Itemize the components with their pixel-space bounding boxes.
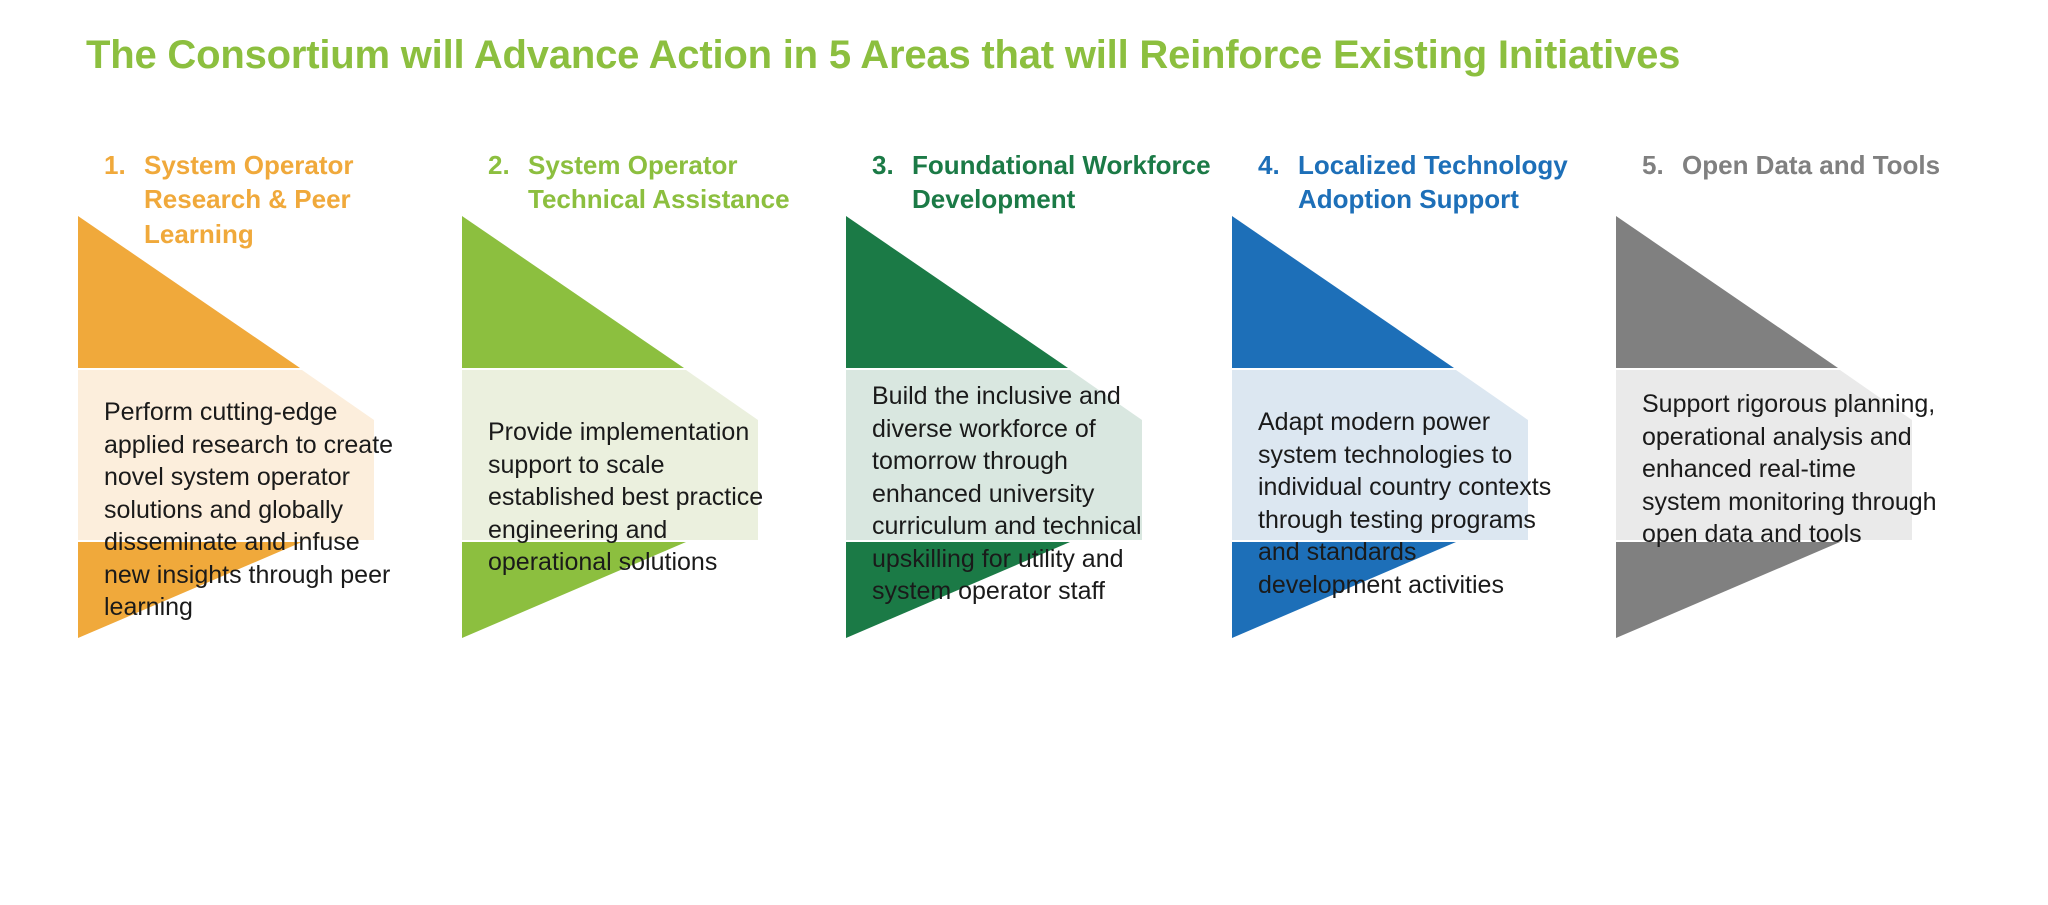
action-area-5[interactable]: 5. Open Data and Tools Support rigorous … [1616, 148, 2006, 848]
action-area-title-1: System Operator Research & Peer Learning [144, 148, 464, 251]
action-area-title-5: Open Data and Tools [1682, 148, 2002, 182]
slide-root: The Consortium will Advance Action in 5 … [0, 0, 2048, 905]
action-area-number-2: 2. [488, 148, 528, 182]
action-area-4[interactable]: 4. Localized Technology Adoption Support… [1232, 148, 1622, 848]
action-area-body-2: Provide implementation support to scale … [488, 416, 788, 579]
action-area-number-3: 3. [872, 148, 912, 182]
action-area-number-5: 5. [1642, 148, 1682, 182]
action-area-2[interactable]: 2. System Operator Technical Assistance … [462, 148, 852, 848]
arrow-top-triangle-2 [462, 216, 684, 368]
action-area-1[interactable]: 1. System Operator Research & Peer Learn… [78, 148, 468, 848]
action-area-number-1: 1. [104, 148, 144, 182]
action-area-heading-4: 4. Localized Technology Adoption Support [1258, 148, 1618, 217]
action-area-heading-2: 2. System Operator Technical Assistance [488, 148, 848, 217]
arrow-top-triangle-4 [1232, 216, 1454, 368]
action-area-body-5: Support rigorous planning, operational a… [1642, 388, 1942, 551]
action-area-body-4: Adapt modern power system technologies t… [1258, 406, 1558, 601]
action-area-heading-1: 1. System Operator Research & Peer Learn… [104, 148, 464, 251]
arrow-bottom-triangle-5 [1616, 542, 1840, 638]
action-area-body-3: Build the inclusive and diverse workforc… [872, 380, 1172, 608]
action-area-title-4: Localized Technology Adoption Support [1298, 148, 1618, 217]
action-area-3[interactable]: 3. Foundational Workforce Development Bu… [846, 148, 1236, 848]
action-area-heading-3: 3. Foundational Workforce Development [872, 148, 1232, 217]
arrow-top-triangle-5 [1616, 216, 1838, 368]
action-area-title-3: Foundational Workforce Development [912, 148, 1232, 217]
action-area-title-2: System Operator Technical Assistance [528, 148, 848, 217]
action-area-number-4: 4. [1258, 148, 1298, 182]
page-title: The Consortium will Advance Action in 5 … [86, 32, 1986, 78]
arrow-top-triangle-3 [846, 216, 1068, 368]
action-areas-row: 1. System Operator Research & Peer Learn… [0, 148, 2048, 848]
action-area-body-1: Perform cutting-edge applied research to… [104, 396, 404, 624]
action-area-heading-5: 5. Open Data and Tools [1642, 148, 2002, 182]
